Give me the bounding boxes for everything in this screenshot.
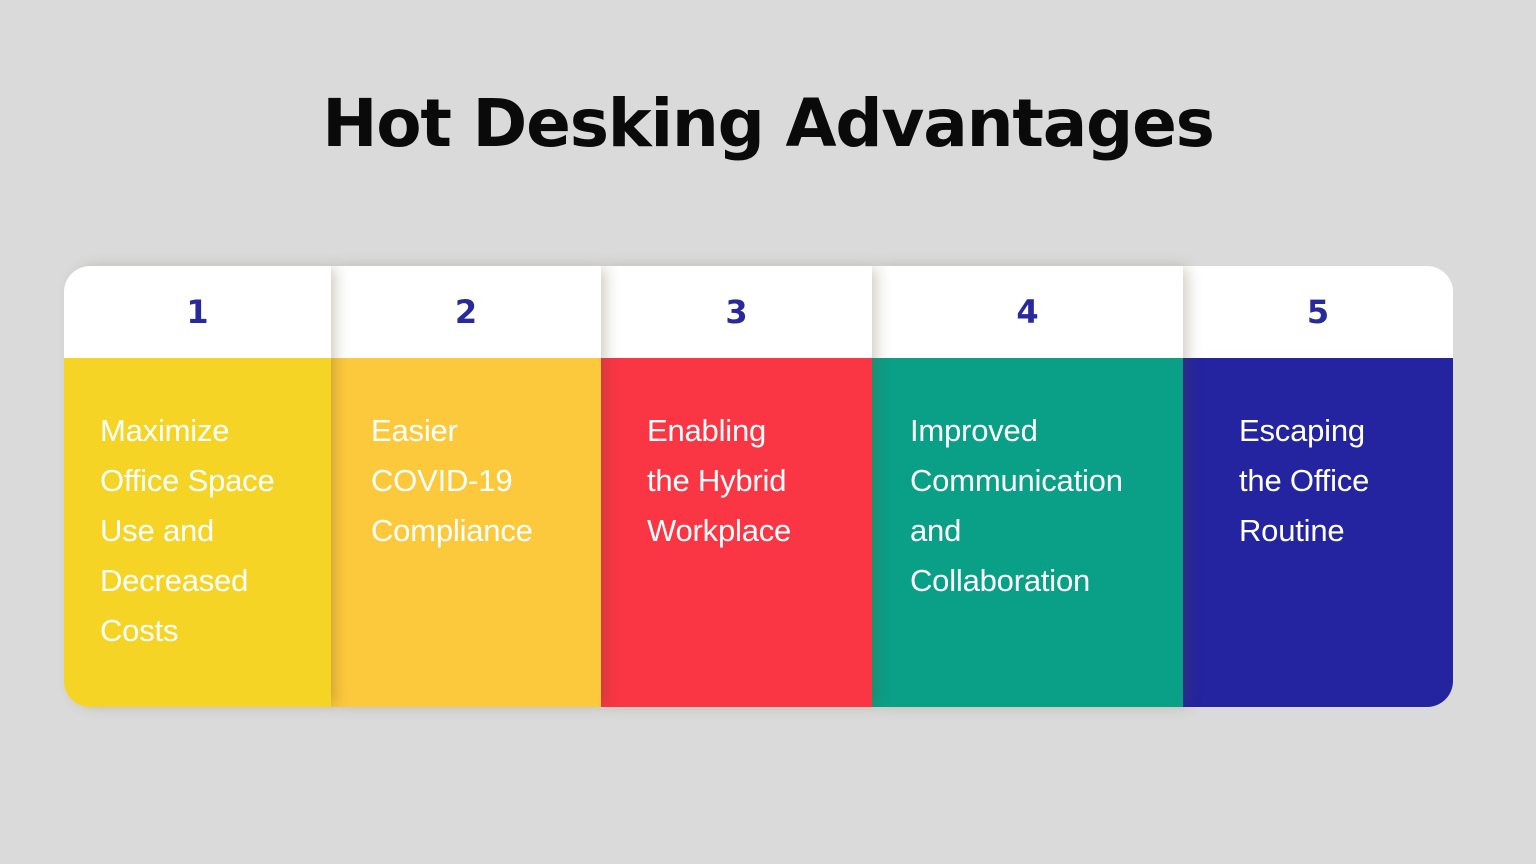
card-text-2: Easier COVID-19 Compliance — [371, 406, 571, 556]
card-number-2: 2 — [455, 296, 477, 328]
card-text-1: Maximize Office Space Use and Decreased … — [100, 406, 301, 656]
card-number-5: 5 — [1307, 296, 1329, 328]
card-body-4: Improved Communication and Collaboration — [872, 358, 1183, 707]
card-header-3: 3 — [601, 266, 872, 358]
card-number-3: 3 — [725, 296, 747, 328]
advantages-card-row: 1 Maximize Office Space Use and Decrease… — [64, 266, 1453, 707]
card-body-5: Escaping the Office Routine — [1183, 358, 1453, 707]
advantage-card-1[interactable]: 1 Maximize Office Space Use and Decrease… — [64, 266, 331, 707]
card-header-4: 4 — [872, 266, 1183, 358]
card-body-1: Maximize Office Space Use and Decreased … — [64, 358, 331, 707]
card-header-1: 1 — [64, 266, 331, 358]
card-number-4: 4 — [1016, 296, 1038, 328]
advantage-card-2[interactable]: 2 Easier COVID-19 Compliance — [331, 266, 601, 707]
card-header-5: 5 — [1183, 266, 1453, 358]
card-body-3: Enabling the Hybrid Workplace — [601, 358, 872, 707]
infographic-root: Hot Desking Advantages 1 Maximize Office… — [0, 0, 1536, 864]
card-header-2: 2 — [331, 266, 601, 358]
advantage-card-3[interactable]: 3 Enabling the Hybrid Workplace — [601, 266, 872, 707]
card-body-2: Easier COVID-19 Compliance — [331, 358, 601, 707]
advantage-card-5[interactable]: 5 Escaping the Office Routine — [1183, 266, 1453, 707]
advantage-card-4[interactable]: 4 Improved Communication and Collaborati… — [872, 266, 1183, 707]
card-text-4: Improved Communication and Collaboration — [910, 406, 1165, 606]
card-text-3: Enabling the Hybrid Workplace — [647, 406, 842, 556]
card-number-1: 1 — [186, 296, 208, 328]
page-title: Hot Desking Advantages — [0, 88, 1536, 161]
card-text-5: Escaping the Office Routine — [1239, 406, 1423, 556]
